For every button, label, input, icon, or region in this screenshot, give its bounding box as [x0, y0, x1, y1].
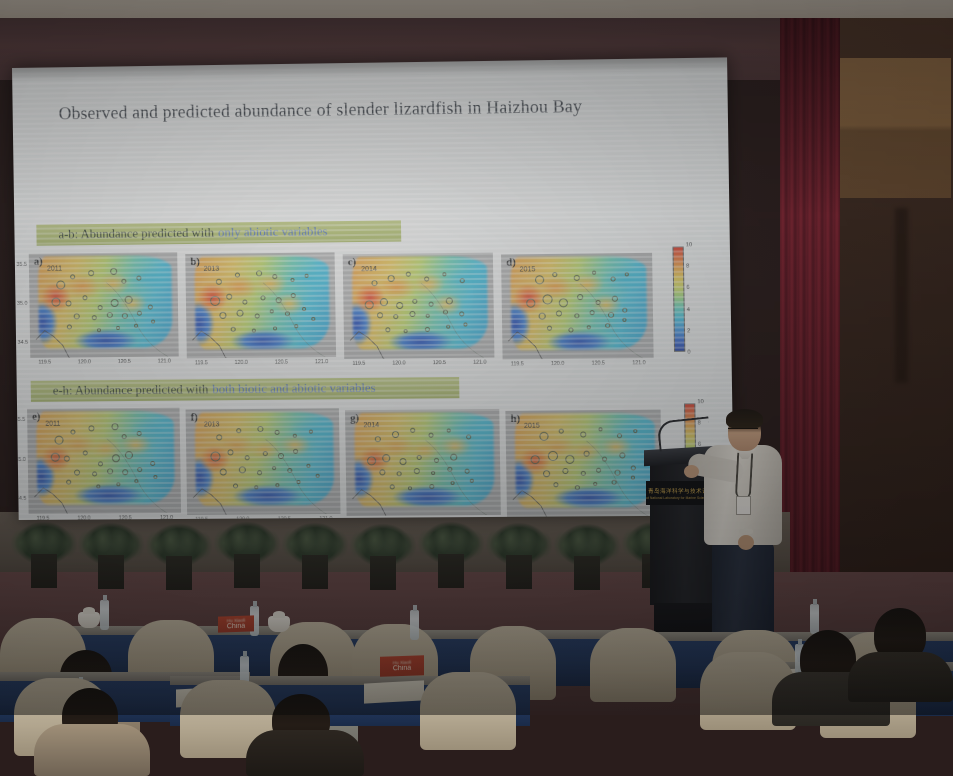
station-bubble	[410, 428, 415, 433]
panel-year: 2014	[363, 422, 379, 429]
wall-dark-strip	[895, 208, 908, 383]
x-tick-label: 121.0	[632, 360, 645, 366]
station-bubble	[153, 475, 157, 479]
station-bubble	[538, 313, 545, 320]
panel-label: c)	[348, 257, 356, 268]
x-tick-label: 120.5	[118, 359, 131, 365]
band-eh-prefix: e-h: Abundance predicted with	[53, 382, 209, 398]
station-bubble	[592, 270, 596, 274]
x-axis-ticks: 119.5120.0120.5121.0	[38, 359, 170, 366]
station-bubble	[424, 276, 429, 281]
station-bubble	[82, 450, 87, 455]
station-bubble	[379, 298, 387, 306]
station-bubble	[442, 272, 446, 276]
station-bubble	[559, 298, 568, 307]
station-bubble	[306, 463, 310, 467]
station-bubble	[534, 275, 543, 284]
station-bubble	[431, 471, 435, 475]
station-bubble	[210, 295, 220, 305]
band-eh-highlight: both biotic and abiotic variables	[212, 381, 375, 398]
map-panel-c: c)2014	[343, 253, 495, 359]
presenter-hair	[726, 409, 763, 429]
projection-screen: Observed and predicted abundance of slen…	[12, 57, 734, 520]
station-bubble	[70, 430, 75, 435]
band-ab-highlight: only abiotic variables	[218, 224, 328, 240]
station-bubble	[610, 276, 615, 281]
station-bubble	[448, 466, 453, 471]
panel-label: b)	[190, 257, 200, 268]
y-tick-label: 35.5	[13, 262, 27, 268]
station-bubble	[244, 455, 249, 460]
y-axis-ticks: 35.535.034.5	[13, 262, 28, 346]
station-bubble	[429, 484, 434, 489]
x-tick-label: 121.0	[158, 359, 171, 365]
panel-year: 2015	[524, 423, 540, 430]
colorbar-row1: 0246810	[672, 246, 685, 351]
audience-chair	[590, 628, 676, 702]
x-tick-label: 120.5	[275, 359, 288, 365]
name-card: Hu Xiaoli China	[380, 655, 424, 677]
colorbar-ticks: 0246810	[686, 242, 694, 355]
wall-light-panel	[838, 58, 951, 198]
station-bubble	[254, 485, 258, 489]
eyeglasses-icon	[728, 428, 758, 434]
panel-label: d)	[506, 257, 516, 268]
station-bubble	[252, 328, 256, 332]
station-bubble	[580, 431, 586, 437]
station-bubble	[51, 453, 60, 462]
plant-foliage	[9, 520, 79, 564]
station-bubble	[434, 458, 439, 463]
station-bubble	[633, 429, 637, 433]
x-tick-label: 120.5	[433, 360, 446, 366]
panel-year: 2015	[520, 266, 536, 273]
station-bubble	[256, 270, 262, 276]
station-bubble	[67, 324, 72, 329]
station-bubble	[630, 476, 634, 480]
station-bubble	[574, 275, 580, 281]
station-bubble	[272, 274, 277, 279]
x-tick-label: 120.0	[551, 361, 564, 367]
station-bubble	[443, 310, 448, 315]
station-bubble	[581, 471, 586, 476]
panel-label: f)	[191, 412, 198, 423]
section-header-biotic-abiotic: e-h: Abundance predicted with both bioti…	[31, 377, 460, 402]
panel-label: g)	[350, 413, 359, 424]
audience-person-body	[246, 730, 364, 776]
panel-label: h)	[511, 414, 521, 425]
x-tick-label: 121.0	[315, 359, 328, 365]
station-bubble	[364, 300, 373, 309]
station-bubble	[116, 482, 120, 486]
panel-year: 2013	[204, 421, 220, 428]
station-bubble	[599, 427, 603, 431]
station-bubble	[608, 312, 614, 318]
station-bubble	[136, 311, 141, 316]
station-bubble	[445, 297, 452, 304]
station-bubble	[406, 271, 411, 276]
water-bottle	[410, 610, 419, 640]
x-tick-label: 121.0	[473, 360, 486, 366]
plant-foliage	[76, 521, 146, 565]
station-bubble	[565, 455, 574, 464]
station-bubble	[226, 293, 232, 299]
panel-year: 2011	[45, 421, 60, 428]
station-bubble	[88, 425, 94, 431]
map-panel-a: a)2011	[29, 252, 179, 358]
map-panel-g: g)2014	[345, 409, 501, 516]
audience-chair	[420, 672, 516, 750]
map-panel-e: e)2011	[27, 408, 181, 514]
station-bubble	[52, 297, 61, 306]
name-card-country: China	[227, 623, 245, 631]
station-bubble	[412, 298, 417, 303]
station-bubble	[285, 311, 290, 316]
station-bubble	[396, 302, 403, 309]
station-bubble	[526, 298, 535, 307]
station-bubble	[260, 295, 265, 300]
station-bubble	[619, 452, 625, 458]
audience-area: Hu Xiaoli ChinaHu Xiaoli China	[0, 560, 953, 715]
station-bubble	[465, 468, 470, 473]
tea-cup	[268, 616, 290, 632]
station-bubble	[88, 270, 94, 276]
station-bubble	[425, 327, 430, 332]
x-tick-label: 119.5	[352, 361, 365, 367]
station-bubble	[273, 326, 277, 330]
presenter-wristwatch	[739, 529, 753, 534]
station-bubble	[272, 466, 276, 470]
x-tick-label: 120.0	[235, 360, 248, 366]
plant-foliage	[212, 520, 282, 564]
station-bubble	[605, 323, 610, 328]
audience-person-body	[848, 652, 953, 702]
audience-person-body	[34, 724, 150, 776]
station-bubble	[595, 300, 600, 305]
water-bottle	[810, 604, 819, 634]
name-card-country: China	[393, 665, 411, 673]
station-bubble	[583, 451, 589, 457]
station-bubble	[107, 468, 113, 474]
x-tick-label: 120.0	[392, 360, 405, 366]
station-bubble	[238, 466, 245, 473]
x-tick-label: 119.5	[511, 361, 524, 367]
station-bubble	[257, 470, 262, 475]
panel-year: 2011	[47, 265, 62, 272]
station-bubble	[150, 460, 155, 465]
panel-label: e)	[32, 412, 40, 423]
name-card: Hu Xiaoli China	[218, 615, 254, 632]
presenter-hand-left	[684, 465, 699, 478]
station-bubble	[589, 310, 594, 315]
station-bubble	[74, 469, 80, 475]
x-tick-label: 120.5	[592, 361, 605, 367]
station-bubble	[558, 428, 563, 433]
presenter-lanyard	[735, 453, 753, 500]
station-bubble	[587, 325, 591, 329]
y-tick-label: 34.5	[14, 340, 28, 346]
station-bubble	[308, 430, 312, 434]
water-bottle	[100, 600, 109, 630]
x-axis-ticks: 119.5120.0120.5121.0	[352, 360, 486, 367]
map-panel-h: h)2015	[505, 410, 662, 517]
presenter-badge	[736, 496, 751, 515]
station-bubble	[389, 484, 394, 489]
station-bubble	[290, 293, 295, 298]
colorbar-gradient	[672, 246, 685, 351]
station-bubble	[408, 486, 412, 490]
station-bubble	[377, 312, 383, 318]
station-bubble	[315, 474, 319, 478]
colorbar-tick-label: 0	[687, 350, 693, 356]
station-bubble	[236, 428, 241, 433]
y-tick-label: 35.0	[13, 301, 27, 307]
station-bubble	[553, 272, 558, 277]
station-bubble	[121, 279, 126, 284]
station-bubble	[83, 295, 88, 300]
plant-foliage	[484, 521, 554, 565]
station-bubble	[469, 479, 473, 483]
station-bubble	[116, 326, 120, 330]
colorbar-tick-label: 8	[686, 264, 692, 270]
station-bubble	[612, 295, 618, 301]
station-bubble	[235, 272, 240, 277]
station-bubble	[575, 485, 580, 490]
colorbar-tick-label: 6	[686, 285, 692, 291]
plant-foliage	[416, 520, 486, 564]
station-bubble	[568, 327, 573, 332]
station-bubble	[111, 454, 119, 462]
colorbar-tick-label: 4	[687, 307, 693, 313]
colorbar-tick-label: 10	[686, 242, 692, 248]
station-bubble	[577, 294, 583, 300]
x-axis-ticks: 119.5120.0120.5121.0	[511, 360, 646, 367]
station-bubble	[111, 423, 118, 430]
station-bubble	[215, 279, 221, 285]
station-bubble	[446, 324, 450, 328]
station-bubble	[124, 295, 132, 303]
station-bubble	[97, 328, 101, 332]
plant-foliage	[280, 521, 350, 565]
station-bubble	[562, 468, 568, 474]
audience-paper	[364, 680, 424, 703]
colorbar-tick-label: 2	[687, 328, 693, 334]
map-panel-d: d)2015	[501, 253, 654, 360]
station-bubble	[65, 300, 71, 306]
x-tick-label: 120.0	[78, 359, 91, 365]
station-bubble	[227, 449, 233, 455]
station-bubble	[542, 294, 552, 304]
station-bubble	[275, 297, 281, 303]
tea-cup	[78, 612, 100, 628]
microphone-icon	[657, 416, 712, 451]
station-bubble	[98, 461, 103, 466]
station-bubble	[466, 435, 471, 440]
station-bubble	[219, 312, 226, 319]
x-tick-label: 119.5	[38, 360, 51, 366]
station-bubble	[548, 451, 558, 461]
x-tick-label: 119.5	[195, 360, 208, 366]
station-bubble	[294, 324, 298, 328]
station-bubble	[630, 465, 635, 470]
station-bubble	[151, 319, 155, 323]
section-header-abiotic: a-b: Abundance predicted with only abiot…	[36, 220, 401, 245]
station-bubble	[92, 471, 97, 476]
station-bubble	[391, 431, 398, 438]
panel-year: 2013	[204, 266, 220, 273]
panel-label: a)	[34, 257, 43, 268]
station-bubble	[275, 483, 279, 487]
x-tick-label: 120.0	[77, 516, 90, 520]
map-panel-f: f)2013	[186, 408, 341, 515]
slide-title: Observed and predicted abundance of slen…	[59, 94, 687, 124]
presenter-hand-right	[738, 535, 754, 550]
station-bubble	[243, 299, 248, 304]
station-bubble	[263, 451, 268, 456]
station-bubble	[56, 280, 65, 289]
station-bubble	[596, 467, 601, 472]
map-panel-b: b)2013	[185, 252, 336, 358]
x-tick-label: 120.5	[119, 515, 132, 520]
panel-year: 2014	[361, 266, 377, 273]
station-bubble	[136, 275, 141, 280]
station-bubble	[414, 468, 420, 474]
station-bubble	[233, 483, 238, 488]
x-axis-ticks: 119.5120.0120.5121.0	[195, 359, 328, 366]
station-bubble	[134, 323, 138, 327]
x-tick-label: 119.5	[37, 516, 50, 520]
band-ab-prefix: a-b: Abundance predicted with	[58, 226, 214, 243]
station-bubble	[110, 267, 117, 274]
station-bubble	[290, 278, 294, 282]
